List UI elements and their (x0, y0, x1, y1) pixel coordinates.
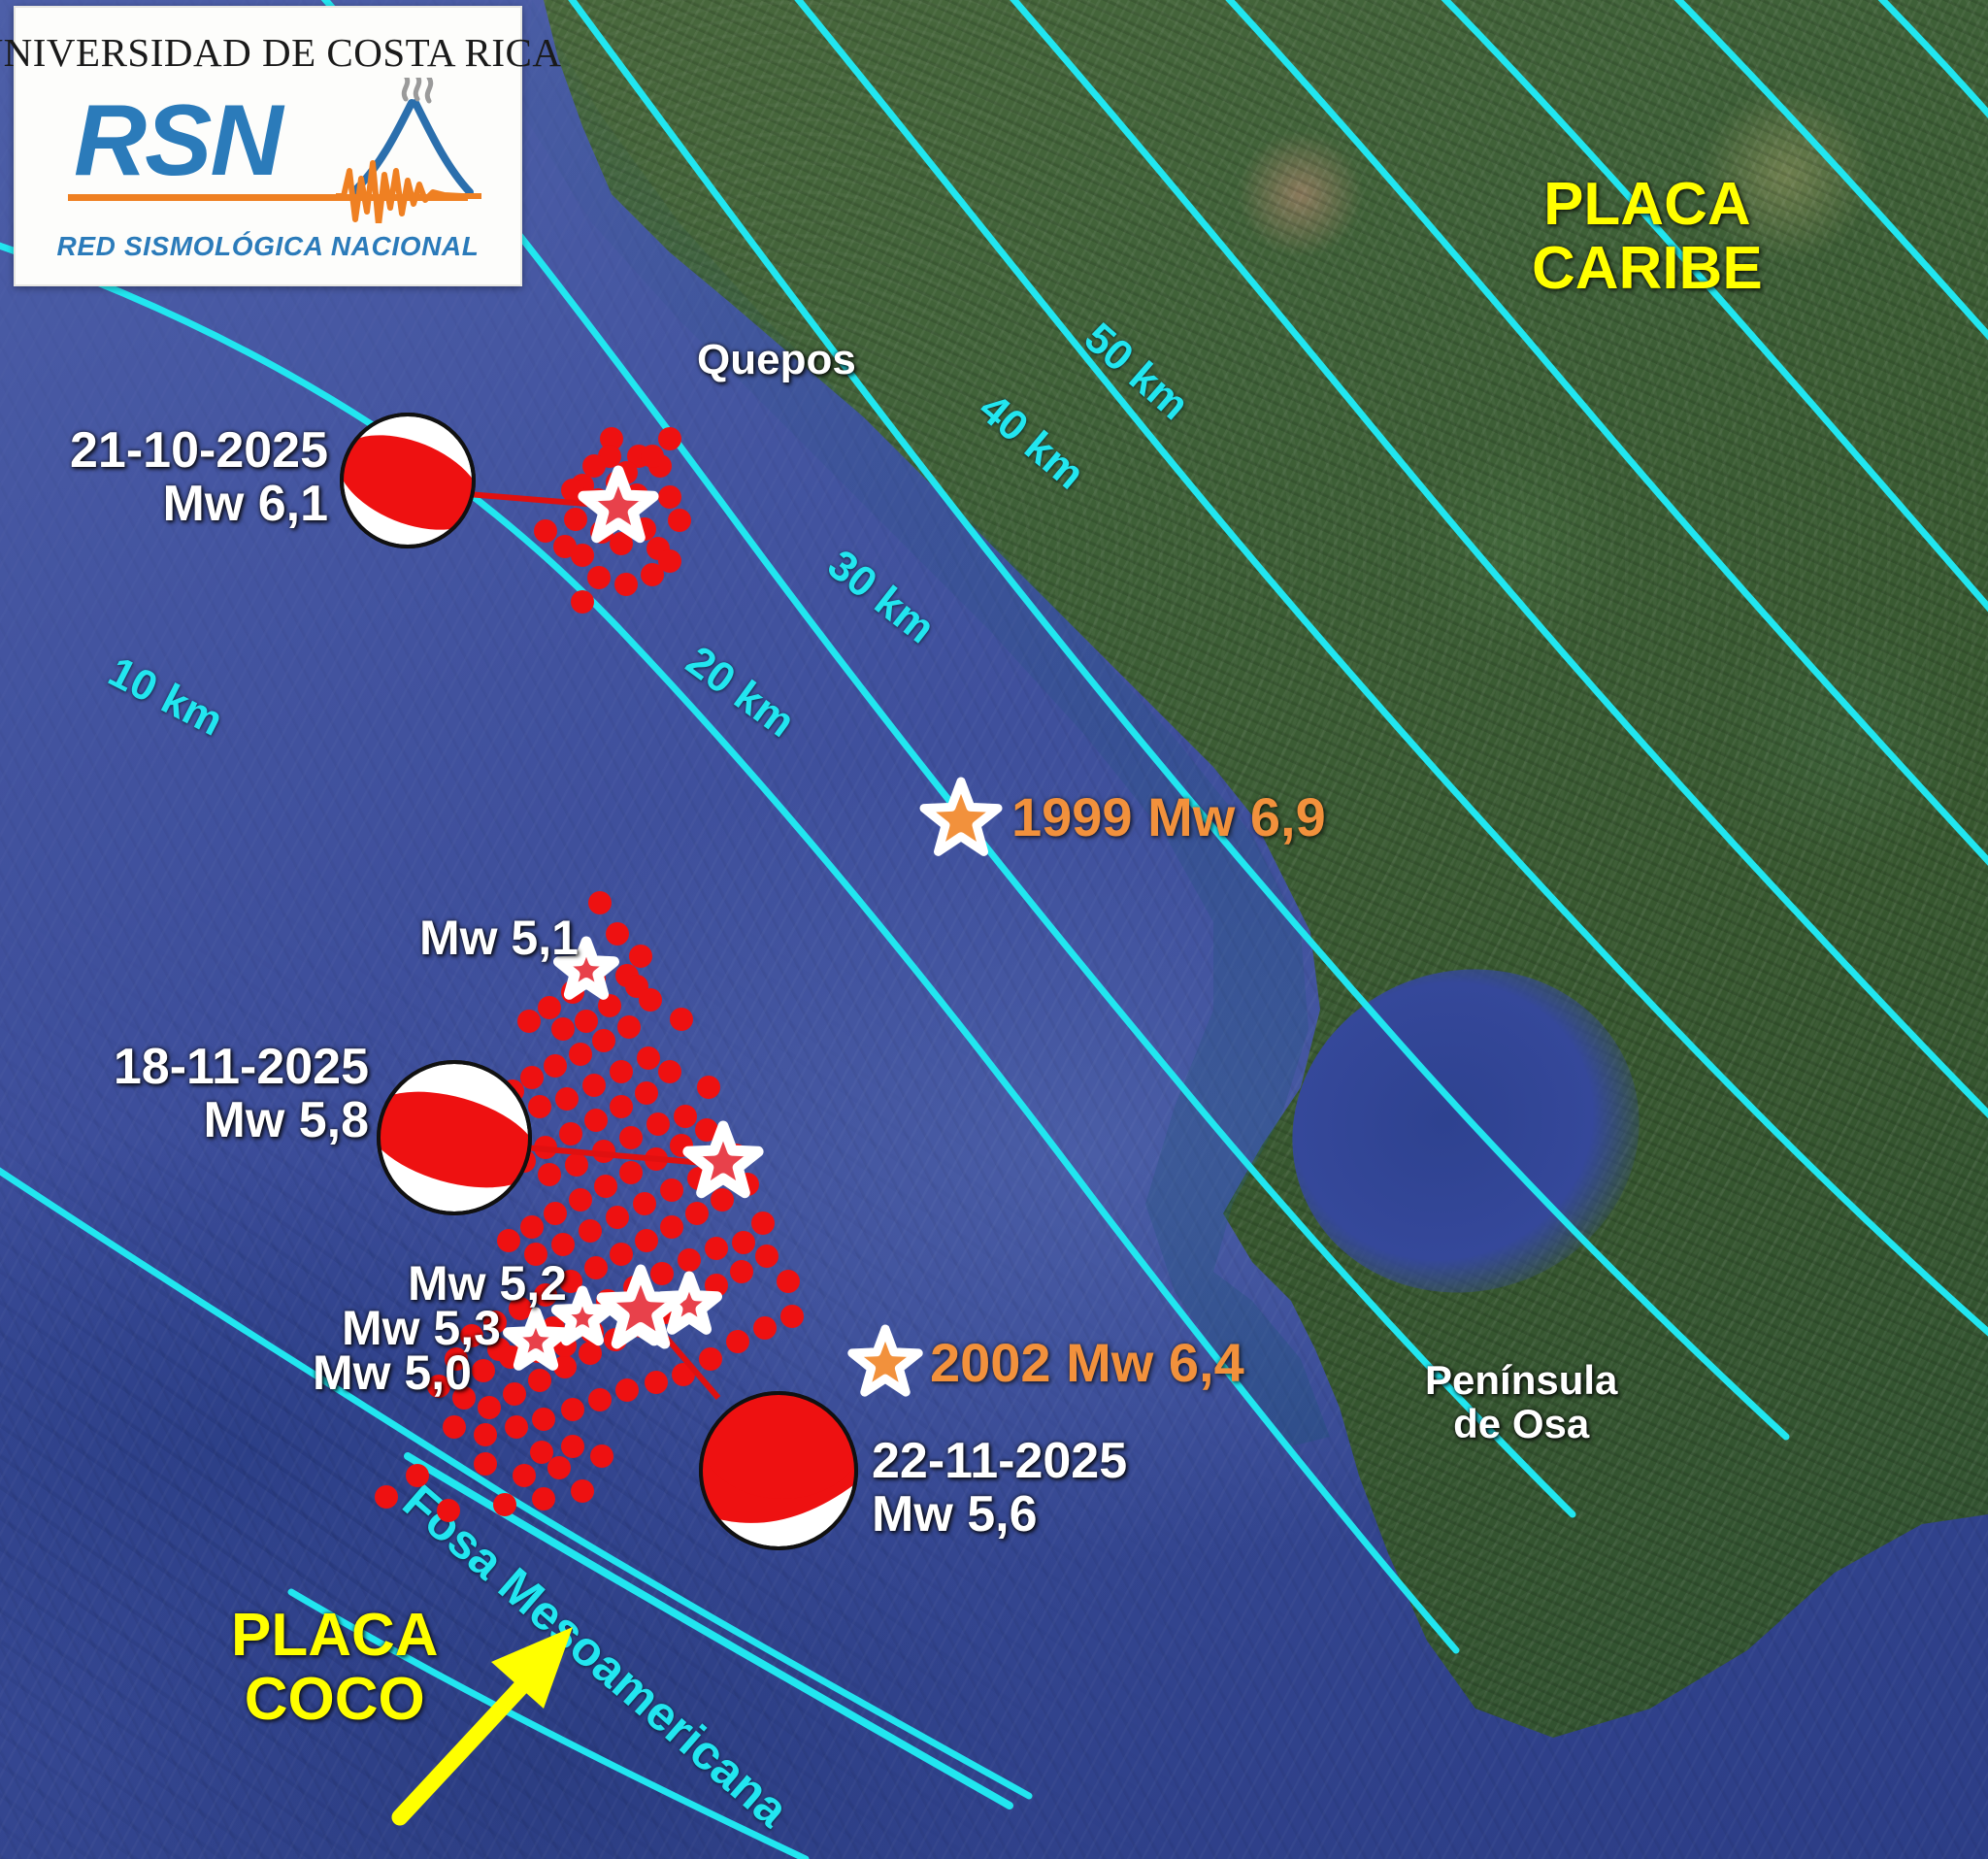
historic-1999-star (924, 781, 998, 851)
logo-university-name: UNIVERSIDAD DE COSTA RICA (0, 29, 561, 76)
logo-graphic: RSN (45, 78, 491, 223)
rsn-logo: UNIVERSIDAD DE COSTA RICA RSN RED SISMOL… (14, 6, 522, 286)
logo-orange-rule (68, 194, 468, 201)
historic-2002-star (852, 1329, 918, 1392)
seismicity-map: 10 km 20 km 30 km 40 km 50 km Fosa Mesoa… (0, 0, 1988, 1859)
volcano-seismograph-icon (45, 78, 491, 223)
historic-label-2002: 2002 Mw 6,4 (930, 1334, 1244, 1391)
logo-subtitle: RED SISMOLÓGICA NACIONAL (57, 231, 480, 262)
historic-label-1999: 1999 Mw 6,9 (1011, 788, 1326, 846)
